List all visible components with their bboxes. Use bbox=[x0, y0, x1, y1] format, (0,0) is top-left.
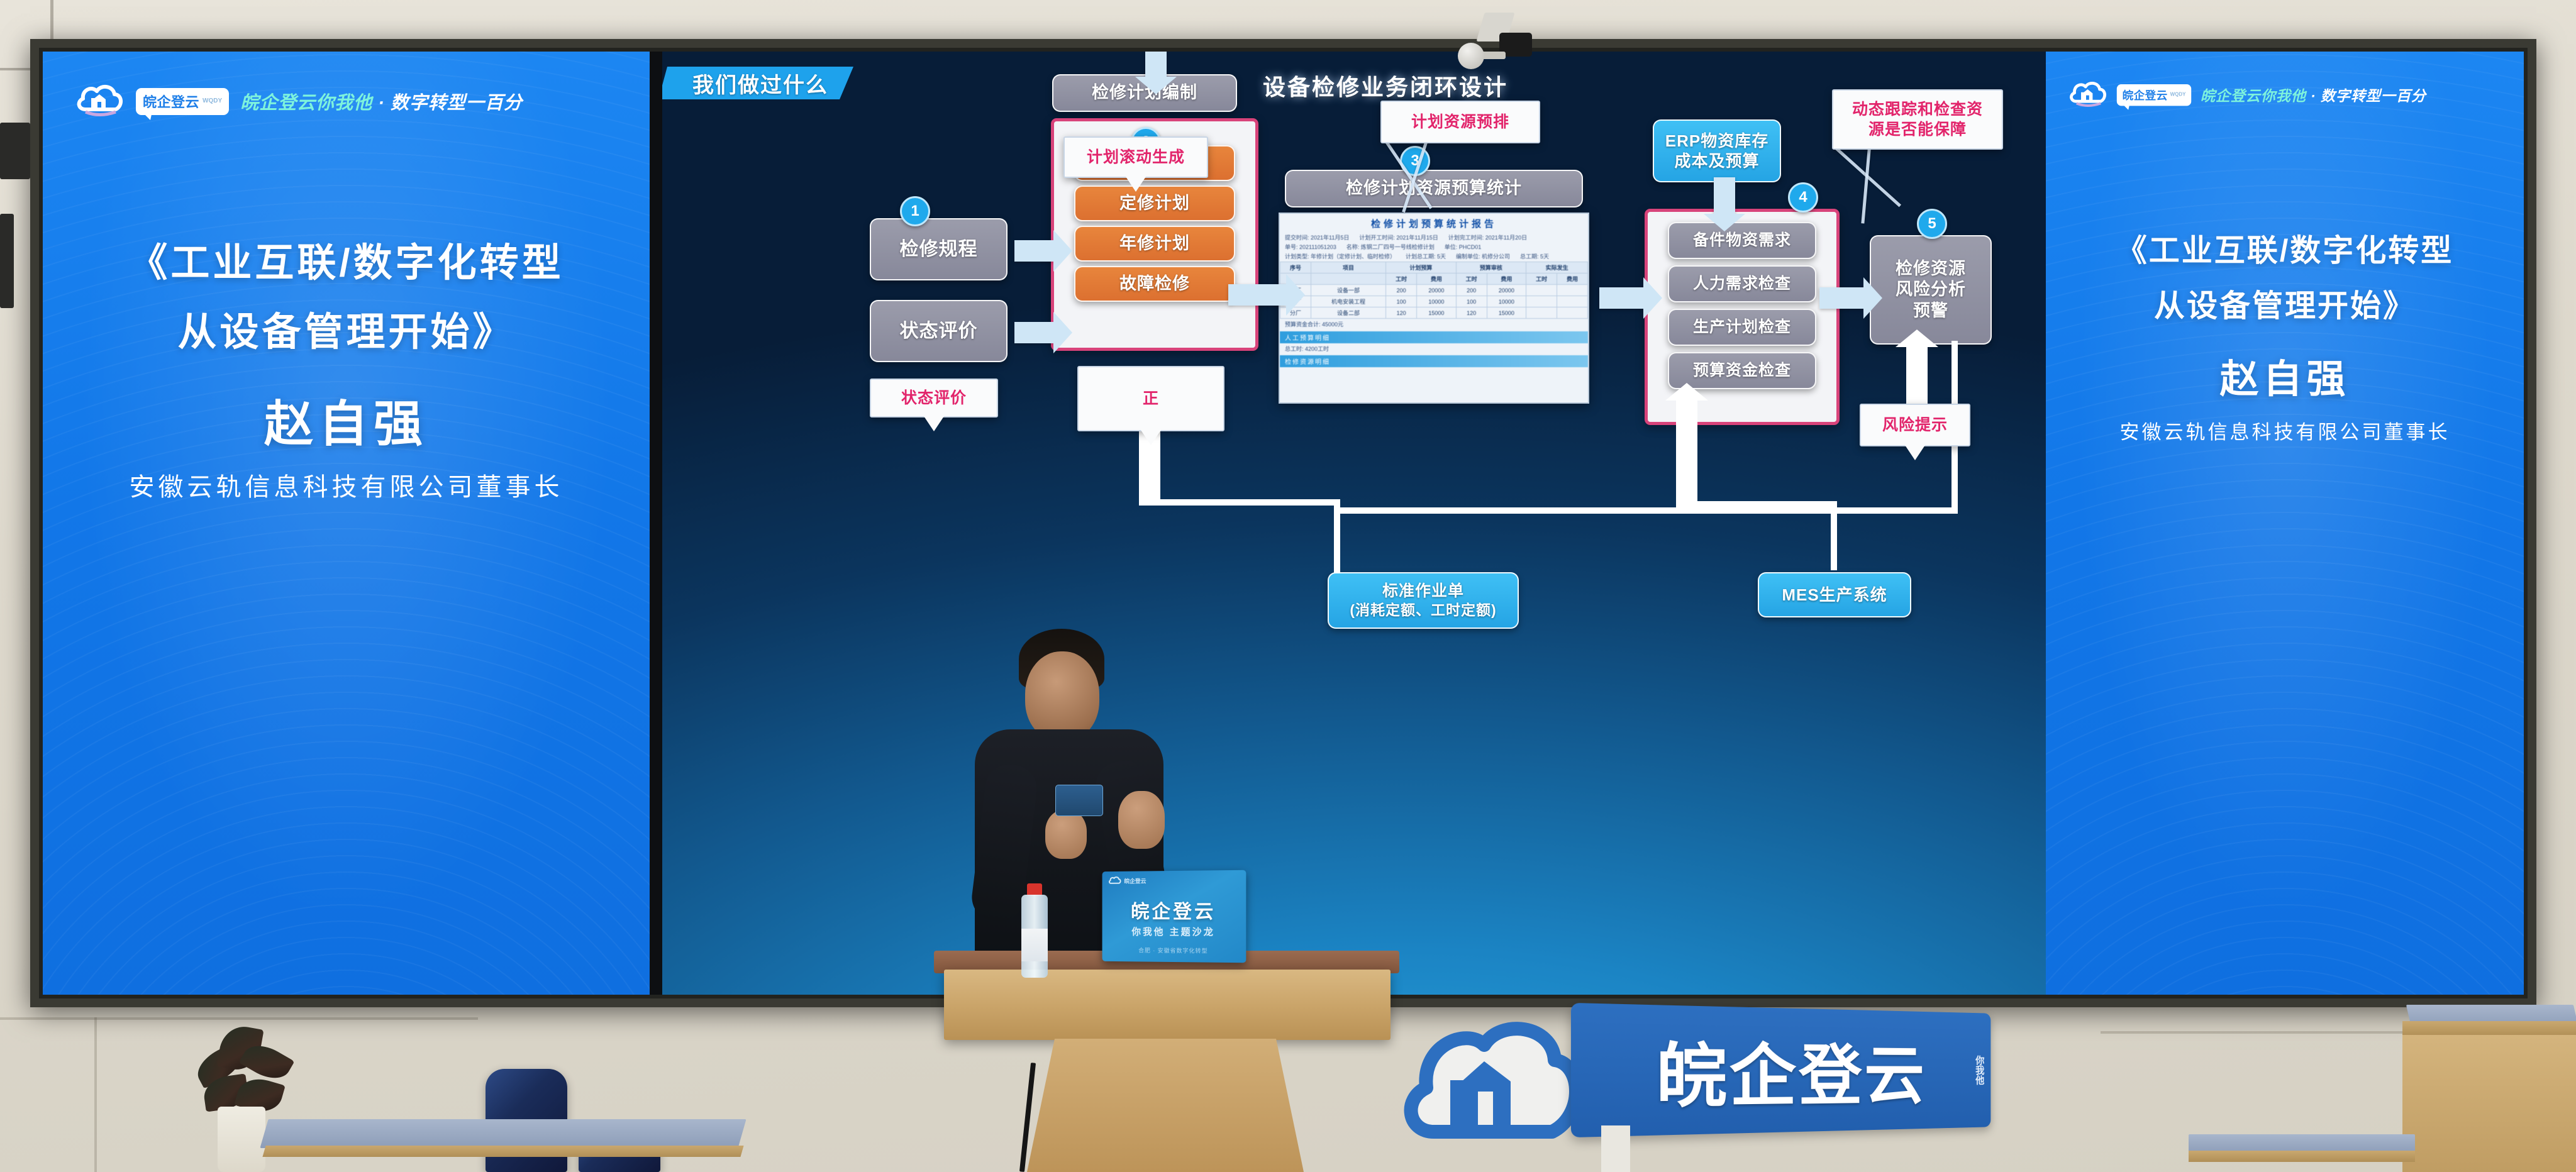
front-table-far-right-edge bbox=[2189, 1151, 2415, 1162]
sub-0: 工时 bbox=[1386, 274, 1417, 285]
cloud-gate-logo-icon bbox=[1396, 1006, 1585, 1169]
arrow-erp-down bbox=[1714, 177, 1735, 214]
r2c6 bbox=[1526, 307, 1557, 319]
ceiling-security-camera bbox=[1446, 13, 1535, 94]
node-erp-inventory: ERP物资库存 成本及预算 bbox=[1653, 119, 1781, 182]
arrow-plan-to-budget bbox=[1228, 284, 1286, 306]
step-badge-4: 4 bbox=[1788, 182, 1818, 213]
step-badge-5: 5 bbox=[1917, 209, 1947, 239]
node-standard-work-order: 标准作业单 (消耗定额、工时定额) bbox=[1328, 572, 1519, 629]
arrow-planheader-down bbox=[1145, 52, 1167, 77]
standee-stand-leg bbox=[1601, 1125, 1630, 1172]
brand-row-left: 皖企登云 WQDY 皖企登云你我他 · 数字转型一百分 bbox=[75, 82, 523, 121]
r1c1: 机电安装工程 bbox=[1311, 296, 1385, 307]
r0c5: 20000 bbox=[1487, 285, 1526, 296]
r2c5: 15000 bbox=[1487, 307, 1526, 319]
report-table: 序号 项目 计划预算 预算审核 实际发生 工时 费用 工时 费用 工时 bbox=[1280, 262, 1588, 319]
report-meta-6: 计划类型: 年修计划（定修计划、临时检修） bbox=[1285, 252, 1396, 260]
brand-chip-left: 皖企登云 WQDY bbox=[136, 88, 229, 115]
node-mes-system: MES生产系统 bbox=[1758, 572, 1911, 617]
event-standee-logo: 皖企登云 你我他 bbox=[1396, 1000, 2063, 1172]
callout-track-line2: 源是否能保障 bbox=[1868, 119, 1967, 140]
step-badge-1: 1 bbox=[900, 196, 930, 226]
front-table-far-right bbox=[2189, 1134, 2415, 1172]
callout-partially-occluded: 正 bbox=[1077, 366, 1224, 431]
speaker-name-left: 赵自强 bbox=[43, 385, 650, 455]
callout-risk-tip: 风险提示 bbox=[1860, 404, 1970, 446]
col-4: 预算审核 bbox=[1456, 262, 1526, 274]
brand-slogan-left: 皖企登云你我他 · 数字转型一百分 bbox=[240, 88, 523, 114]
r1c2: 100 bbox=[1386, 296, 1417, 307]
title-headline-line1: 《工业互联/数字化转型 bbox=[43, 234, 650, 293]
r1c4: 100 bbox=[1456, 296, 1487, 307]
podium-column bbox=[1027, 1039, 1304, 1172]
node-sop-line1: 标准作业单 bbox=[1382, 582, 1464, 601]
table-sign-sub: 你我他 主题沙龙 bbox=[1102, 925, 1246, 939]
arrow-mes-up bbox=[1676, 401, 1697, 506]
table-row: 分厂 设备一部 200 20000 200 20000 bbox=[1280, 285, 1588, 296]
r2c7 bbox=[1557, 307, 1588, 319]
node-risk-analysis: 检修资源 风险分析 预警 bbox=[1870, 235, 1992, 345]
title-headline-line2: 从设备管理开始》 bbox=[43, 303, 650, 362]
arrow-state-to-plan bbox=[1014, 322, 1053, 343]
col-0: 序号 bbox=[1280, 262, 1311, 274]
wall-outlet-box bbox=[0, 214, 14, 308]
brand-chip-sub: WQDY bbox=[2170, 92, 2186, 97]
report-section-2: 检修资源明细 bbox=[1280, 355, 1588, 367]
slogan-white-part: 数字转型一百分 bbox=[2321, 88, 2426, 104]
sub-4: 工时 bbox=[1526, 274, 1557, 285]
conference-room-photo: 皖企登云 WQDY 皖企登云你我他 · 数字转型一百分 《工业互联/数字化转型 … bbox=[0, 0, 2576, 1172]
node-erp-line1: ERP物资库存 bbox=[1665, 131, 1768, 151]
callout-resource-prearrange: 计划资源预排 bbox=[1380, 101, 1540, 143]
callout-dynamic-tracking: 动态跟踪和检查资 源是否能保障 bbox=[1832, 89, 2003, 150]
title-headline-line1: 《工业互联/数字化转型 bbox=[2046, 228, 2524, 274]
report-section-0: 人工预算明细 bbox=[1280, 331, 1588, 343]
brand-row-right: 皖企登云 WQDY 皖企登云你我他 · 数字转型一百分 bbox=[2068, 79, 2426, 111]
table-row: 分厂 设备二部 120 15000 120 15000 bbox=[1280, 307, 1588, 319]
node-state-evaluation: 状态评价 bbox=[870, 300, 1008, 362]
connector-risk-horizontal bbox=[1340, 507, 1958, 514]
water-bottle bbox=[1020, 883, 1049, 978]
handheld-microphone bbox=[1055, 785, 1103, 816]
bottle-label bbox=[1021, 929, 1048, 961]
node-risk-line3: 预警 bbox=[1913, 301, 1948, 321]
r2c1: 设备二部 bbox=[1311, 307, 1385, 319]
table-sign-main: 皖企登云 bbox=[1102, 895, 1246, 924]
report-meta-7: 计划总工期: 5天 bbox=[1406, 252, 1446, 260]
r1c5: 10000 bbox=[1487, 296, 1526, 307]
front-table-surface bbox=[260, 1119, 746, 1148]
r2c4: 120 bbox=[1456, 307, 1487, 319]
connector-mes-horizontal bbox=[1676, 501, 1837, 507]
brand-chip-sub: WQDY bbox=[203, 98, 222, 104]
podium-front-face bbox=[944, 970, 1391, 1040]
embedded-report-screenshot: 检修计划预算统计报告 提交时间: 2021年11月5日 计划开工时间: 2021… bbox=[1279, 213, 1589, 404]
node-plan-item-1: 定修计划 bbox=[1074, 185, 1235, 221]
table-row: 分厂 机电安装工程 100 10000 100 10000 bbox=[1280, 296, 1588, 307]
connector-sop-horizontal bbox=[1139, 499, 1340, 506]
report-meta-4: 名称: 炼钢二厂四号一号线检修计划 bbox=[1346, 243, 1435, 251]
speaker-name-right: 赵自强 bbox=[2046, 347, 2524, 404]
node-plan-item-2: 年修计划 bbox=[1074, 226, 1235, 262]
cloud-gate-logo-icon bbox=[2068, 79, 2107, 111]
brand-chip-main: 皖企登云 bbox=[2123, 87, 2168, 103]
r0c7 bbox=[1557, 285, 1588, 296]
report-meta-2: 计划完工时间: 2021年11月20日 bbox=[1448, 233, 1527, 241]
slide-flowchart-center: 我们做过什么 设备检修业务闭环设计 1 检修规程 状态评价 bbox=[662, 52, 2109, 995]
callout-track-line1: 动态跟踪和检查资 bbox=[1852, 99, 1983, 120]
led-video-wall: 皖企登云 WQDY 皖企登云你我他 · 数字转型一百分 《工业互联/数字化转型 … bbox=[30, 39, 2536, 1007]
cloud-gate-logo-icon bbox=[1108, 876, 1121, 887]
camera-dome bbox=[1458, 43, 1484, 69]
report-meta-5: 单位: PHCD01 bbox=[1445, 243, 1482, 251]
report-title: 检修计划预算统计报告 bbox=[1280, 214, 1588, 232]
r0c2: 200 bbox=[1386, 285, 1417, 296]
arrow-check-to-risk bbox=[1819, 287, 1863, 309]
leader-line-tracking-2 bbox=[1861, 147, 1871, 224]
cloud-gate-logo-icon bbox=[75, 82, 125, 121]
report-meta-8: 编制单位: 机修分公司 bbox=[1456, 252, 1510, 260]
sub-2: 工时 bbox=[1456, 274, 1487, 285]
table-subheader-row: 工时 费用 工时 费用 工时 费用 bbox=[1280, 274, 1588, 285]
speaker-head bbox=[1025, 651, 1099, 741]
slide-title-left: 皖企登云 WQDY 皖企登云你我他 · 数字转型一百分 《工业互联/数字化转型 … bbox=[43, 52, 650, 995]
arrow-risktip-up bbox=[1906, 347, 1928, 409]
speaker-mic-hand bbox=[1045, 810, 1087, 859]
report-meta-9: 总工期: 5天 bbox=[1520, 252, 1549, 260]
sub-3: 费用 bbox=[1487, 274, 1526, 285]
node-inspection-regulation: 检修规程 bbox=[870, 218, 1008, 280]
standee-side-text: 你我他 bbox=[1974, 1055, 1984, 1085]
r0c1: 设备一部 bbox=[1311, 285, 1385, 296]
r0c6 bbox=[1526, 285, 1557, 296]
sub-1: 费用 bbox=[1417, 274, 1457, 285]
col-1: 项目 bbox=[1311, 262, 1385, 274]
table-sign-foot: 合肥 · 安徽省数字化转型 bbox=[1102, 946, 1246, 955]
sub-5: 费用 bbox=[1557, 274, 1588, 285]
arrow-regulation-to-plan bbox=[1014, 240, 1053, 262]
wall-panel-line-left2 bbox=[94, 1017, 97, 1172]
speaker-org-left: 安徽云轨信息科技有限公司董事长 bbox=[43, 467, 650, 503]
col-2: 计划预算 bbox=[1386, 262, 1457, 274]
standee-text: 皖企登云 bbox=[1656, 1019, 1926, 1122]
node-sop-line2: (消耗定额、工时定额) bbox=[1350, 601, 1496, 619]
node-risk-line1: 检修资源 bbox=[1896, 258, 1966, 279]
speaker-podium bbox=[934, 951, 1399, 1172]
slogan-dot: · bbox=[372, 93, 391, 113]
brand-slogan-right: 皖企登云你我他 · 数字转型一百分 bbox=[2201, 84, 2426, 106]
slogan-green-part: 皖企登云你我他 bbox=[2201, 88, 2306, 104]
r0c4: 200 bbox=[1456, 285, 1487, 296]
node-check-item-2: 生产计划检查 bbox=[1668, 309, 1816, 346]
bottle-cap bbox=[1027, 883, 1042, 896]
node-risk-line2: 风险分析 bbox=[1896, 279, 1966, 300]
report-meta-3: 单号: 202111051203 bbox=[1285, 243, 1336, 251]
callout-plan-rolling: 计划滚动生成 bbox=[1063, 136, 1208, 178]
report-meta: 提交时间: 2021年11月5日 计划开工时间: 2021年11月15日 计划完… bbox=[1280, 232, 1588, 262]
plant-pot bbox=[218, 1107, 265, 1172]
node-check-item-1: 人力需求检查 bbox=[1668, 265, 1816, 302]
r2c3: 15000 bbox=[1417, 307, 1457, 319]
connector-sop-vertical bbox=[1334, 499, 1340, 573]
slogan-green-part: 皖企登云你我他 bbox=[240, 93, 372, 113]
wall-seam-vertical bbox=[50, 0, 53, 39]
standee-plate: 皖企登云 你我他 bbox=[1571, 1003, 1990, 1137]
brand-chip-main: 皖企登云 bbox=[143, 91, 199, 111]
front-table-right-edge bbox=[2402, 1021, 2576, 1036]
front-table-right-body bbox=[2402, 1035, 2576, 1172]
title-headline-line2: 从设备管理开始》 bbox=[2046, 283, 2524, 329]
table-sign-brand-label: 皖企登云 bbox=[1124, 876, 1146, 885]
wall-switch-box bbox=[0, 123, 30, 179]
node-erp-line2: 成本及预算 bbox=[1674, 151, 1759, 171]
r2c2: 120 bbox=[1386, 307, 1417, 319]
arrow-budget-to-check bbox=[1599, 287, 1643, 309]
r1c3: 10000 bbox=[1417, 296, 1457, 307]
col-6: 实际发生 bbox=[1526, 262, 1588, 274]
slogan-white-part: 数字转型一百分 bbox=[391, 93, 523, 113]
sub-blank-b bbox=[1311, 274, 1385, 285]
speaker-org-right: 安徽云轨信息科技有限公司董事长 bbox=[2046, 416, 2524, 445]
node-plan-item-3: 故障检修 bbox=[1074, 266, 1235, 302]
front-table-right bbox=[2402, 1005, 2576, 1172]
callout-state-evaluation: 状态评价 bbox=[870, 379, 998, 417]
front-table-edge bbox=[262, 1146, 743, 1157]
event-table-sign: 皖企登云 皖企登云 你我他 主题沙龙 合肥 · 安徽省数字化转型 bbox=[1102, 870, 1246, 963]
report-meta-1: 计划开工时间: 2021年11月15日 bbox=[1359, 233, 1438, 241]
report-meta-0: 提交时间: 2021年11月5日 bbox=[1285, 233, 1349, 241]
report-footer-note: 预算资金合计: 45000元 bbox=[1280, 319, 1588, 331]
r1c7 bbox=[1557, 296, 1588, 307]
slogan-dot: · bbox=[2306, 88, 2321, 104]
brand-chip-right: 皖企登云 WQDY bbox=[2117, 84, 2192, 106]
table-header-row: 序号 项目 计划预算 预算审核 实际发生 bbox=[1280, 262, 1588, 274]
r0c3: 20000 bbox=[1417, 285, 1457, 296]
slide-title-right: 皖企登云 WQDY 皖企登云你我他 · 数字转型一百分 《工业互联/数字化转型 … bbox=[2046, 52, 2524, 995]
speaker-gesturing-hand bbox=[1118, 791, 1165, 849]
node-budget-header: 检修计划资源预算统计 bbox=[1285, 170, 1583, 207]
table-sign-brand: 皖企登云 bbox=[1108, 875, 1146, 886]
front-table-left bbox=[264, 1119, 742, 1172]
r1c6 bbox=[1526, 296, 1557, 307]
report-section-note: 总工时: 4200工时 bbox=[1280, 343, 1588, 356]
